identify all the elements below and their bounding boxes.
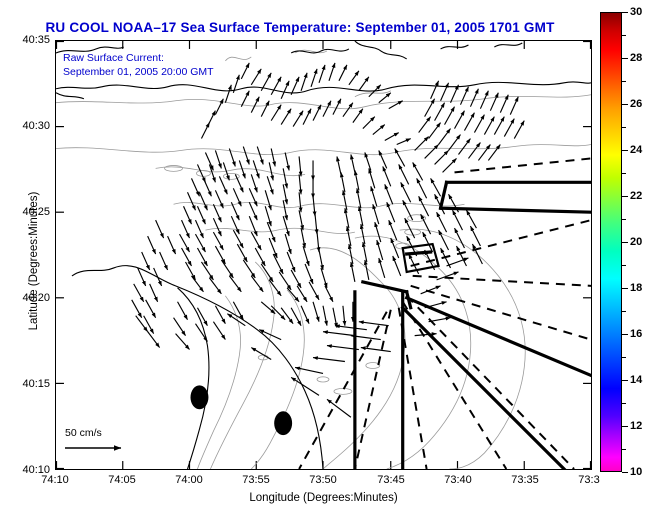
colorbar-tick-18: 18	[630, 282, 642, 294]
y-axis-title: Latitude (Degrees:Minutes)	[28, 141, 40, 381]
x-tick-7: 73:35	[511, 474, 539, 486]
colorbar-tick-30: 30	[630, 6, 642, 18]
plot-area: Raw Surface Current: September 01, 2005 …	[55, 40, 592, 470]
x-tick-2: 74:00	[175, 474, 203, 486]
colorbar-tick-24: 24	[630, 144, 642, 156]
colorbar-tick-20: 20	[630, 236, 642, 248]
x-tick-1: 74:05	[108, 474, 136, 486]
colorbar-tick-26: 26	[630, 98, 642, 110]
y-tick-5: 40:10	[10, 464, 50, 476]
plot-canvas	[56, 41, 591, 469]
x-tick-5: 73:45	[377, 474, 405, 486]
colorbar-tick-22: 22	[630, 190, 642, 202]
colorbar-tick-12: 12	[630, 420, 642, 432]
x-tick-8: 73:3	[578, 474, 599, 486]
y-tick-0: 40:35	[10, 34, 50, 46]
colorbar-tick-10: 10	[630, 466, 642, 478]
x-axis-title: Longitude (Degrees:Minutes)	[55, 492, 592, 504]
x-tick-4: 73:50	[309, 474, 337, 486]
sst-current-plot: RU COOL NOAA–17 Sea Surface Temperature:…	[0, 0, 651, 518]
page-title: RU COOL NOAA–17 Sea Surface Temperature:…	[0, 20, 600, 35]
x-tick-3: 73:55	[242, 474, 270, 486]
x-tick-6: 73:40	[444, 474, 472, 486]
surface-current-vectors	[132, 63, 525, 417]
colorbar-tick-28: 28	[630, 52, 642, 64]
colorbar-gradient	[600, 12, 622, 472]
colorbar: 30 28 26 24 22 20 18 16 14 12 10	[600, 12, 622, 472]
colorbar-tick-16: 16	[630, 328, 642, 340]
colorbar-tick-14: 14	[630, 374, 642, 386]
station-markers	[190, 385, 292, 435]
y-tick-1: 40:30	[10, 120, 50, 132]
